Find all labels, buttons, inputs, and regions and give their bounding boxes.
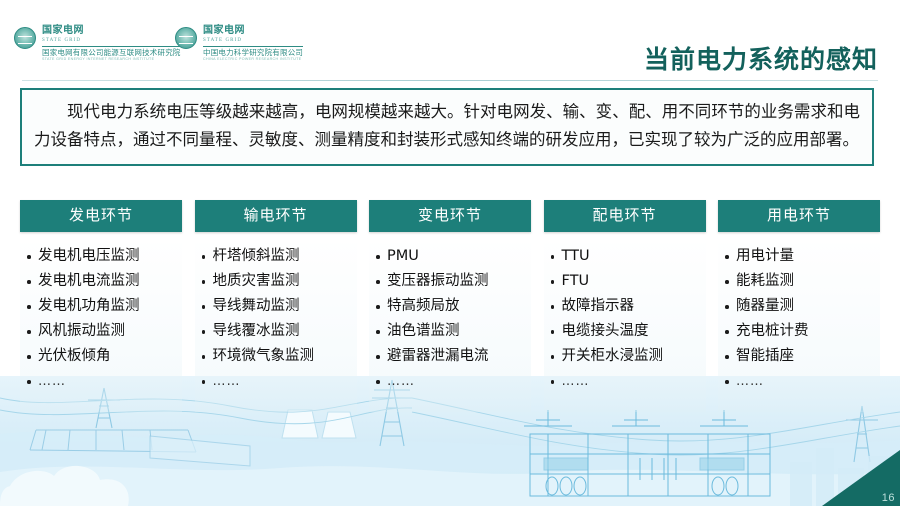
list-item: 光伏板倾角 <box>24 344 180 369</box>
list-item: 发电机电流监测 <box>24 269 180 294</box>
list-item: 开关柜水浸监测 <box>548 344 704 369</box>
page-number-corner: 16 <box>822 450 900 506</box>
logo-name-cn: 国家电网 <box>203 26 303 36</box>
column-transmission: 输电环节 杆塔倾斜监测 地质灾害监测 导线舞动监测 导线覆冰监测 环境微气象监测… <box>195 200 357 412</box>
list-item: 随器量测 <box>722 294 878 319</box>
stage-columns: 发电环节 发电机电压监测 发电机电流监测 发电机功角监测 风机振动监测 光伏板倾… <box>20 200 880 412</box>
list-item: 发电机功角监测 <box>24 294 180 319</box>
logo-subtitle-cn: 中国电力科学研究院有限公司 <box>203 49 303 57</box>
logo-china-epri: 国家电网 STATE GRID 中国电力科学研究院有限公司 CHINA ELEC… <box>175 26 303 62</box>
column-generation: 发电环节 发电机电压监测 发电机电流监测 发电机功角监测 风机振动监测 光伏板倾… <box>20 200 182 412</box>
column-body: TTU FTU 故障指示器 电缆接头温度 开关柜水浸监测 …… <box>544 238 706 412</box>
column-header: 发电环节 <box>20 200 182 232</box>
list-item: 智能插座 <box>722 344 878 369</box>
list-item: 油色谱监测 <box>373 319 529 344</box>
list-item: 发电机电压监测 <box>24 244 180 269</box>
list-item: 避雷器泄漏电流 <box>373 344 529 369</box>
list-item: 用电计量 <box>722 244 878 269</box>
list-item: 能耗监测 <box>722 269 878 294</box>
column-header: 输电环节 <box>195 200 357 232</box>
list-item: 充电桩计费 <box>722 319 878 344</box>
column-body: 用电计量 能耗监测 随器量测 充电桩计费 智能插座 …… <box>718 238 880 412</box>
logo-energy-internet-institute: 国家电网 STATE GRID 国家电网有限公司能源互联网技术研究院 STATE… <box>14 26 181 62</box>
list-item: 导线覆冰监测 <box>199 319 355 344</box>
page-number: 16 <box>882 492 895 504</box>
list-item: 导线舞动监测 <box>199 294 355 319</box>
column-body: PMU 变压器振动监测 特高频局放 油色谱监测 避雷器泄漏电流 …… <box>369 238 531 412</box>
list-item: 杆塔倾斜监测 <box>199 244 355 269</box>
logo-name-en: STATE GRID <box>203 38 303 43</box>
logo-subtitle-cn: 国家电网有限公司能源互联网技术研究院 <box>42 49 181 57</box>
slide: 国家电网 STATE GRID 国家电网有限公司能源互联网技术研究院 STATE… <box>0 0 900 506</box>
list-item: 故障指示器 <box>548 294 704 319</box>
column-header: 用电环节 <box>718 200 880 232</box>
list-item: 电缆接头温度 <box>548 319 704 344</box>
column-header: 变电环节 <box>369 200 531 232</box>
slide-header: 国家电网 STATE GRID 国家电网有限公司能源互联网技术研究院 STATE… <box>0 0 900 82</box>
list-item: PMU <box>373 244 529 269</box>
column-consumption: 用电环节 用电计量 能耗监测 随器量测 充电桩计费 智能插座 …… <box>718 200 880 412</box>
column-body: 杆塔倾斜监测 地质灾害监测 导线舞动监测 导线覆冰监测 环境微气象监测 …… <box>195 238 357 412</box>
list-item: …… <box>24 369 180 394</box>
list-item: 环境微气象监测 <box>199 344 355 369</box>
list-item: 风机振动监测 <box>24 319 180 344</box>
list-item: TTU <box>548 244 704 269</box>
column-header: 配电环节 <box>544 200 706 232</box>
list-item: …… <box>548 369 704 394</box>
intro-paragraph: 现代电力系统电压等级越来越高，电网规模越来越大。针对电网发、输、变、配、用不同环… <box>34 98 860 154</box>
page-title: 当前电力系统的感知 <box>644 40 878 76</box>
list-item: 特高频局放 <box>373 294 529 319</box>
column-distribution: 配电环节 TTU FTU 故障指示器 电缆接头温度 开关柜水浸监测 …… <box>544 200 706 412</box>
state-grid-globe-icon <box>175 27 197 49</box>
logo-subtitle-en: CHINA ELECTRIC POWER RESEARCH INSTITUTE <box>203 58 303 62</box>
list-item: …… <box>722 369 878 394</box>
title-divider <box>22 80 878 81</box>
list-item: 地质灾害监测 <box>199 269 355 294</box>
intro-text-box: 现代电力系统电压等级越来越高，电网规模越来越大。针对电网发、输、变、配、用不同环… <box>20 88 874 166</box>
list-item: …… <box>373 369 529 394</box>
logo-name-en: STATE GRID <box>42 38 181 43</box>
logo-subtitle-en: STATE GRID ENERGY INTERNET RESEARCH INST… <box>42 58 181 62</box>
logo-name-cn: 国家电网 <box>42 26 181 36</box>
column-substation: 变电环节 PMU 变压器振动监测 特高频局放 油色谱监测 避雷器泄漏电流 …… <box>369 200 531 412</box>
list-item: …… <box>199 369 355 394</box>
column-body: 发电机电压监测 发电机电流监测 发电机功角监测 风机振动监测 光伏板倾角 …… <box>20 238 182 412</box>
list-item: 变压器振动监测 <box>373 269 529 294</box>
state-grid-globe-icon <box>14 27 36 49</box>
list-item: FTU <box>548 269 704 294</box>
